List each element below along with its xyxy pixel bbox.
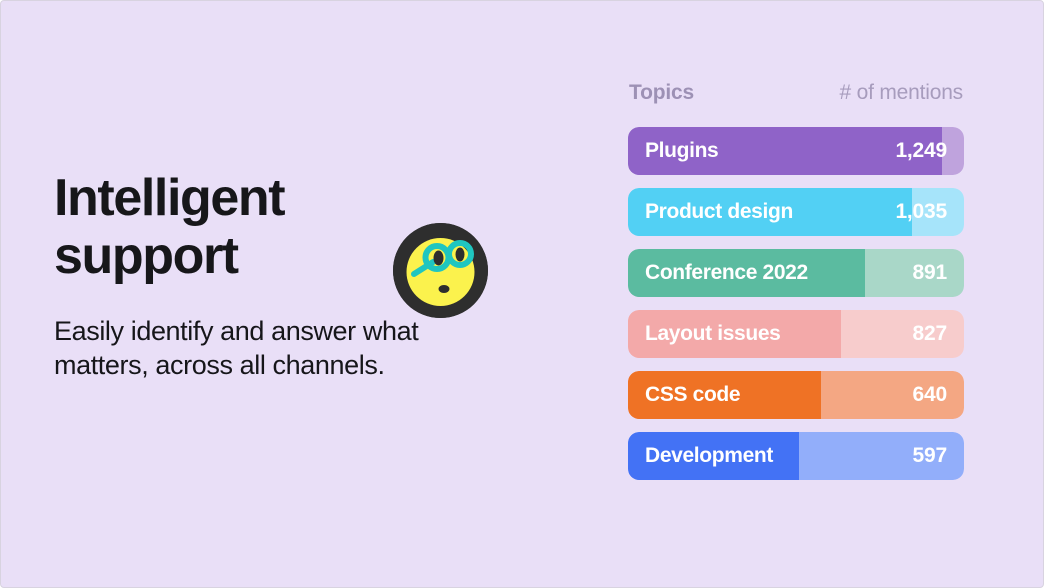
bar-value: 597 — [913, 444, 947, 468]
bar-label: Plugins — [645, 139, 718, 163]
bar-label: Layout issues — [645, 322, 781, 346]
bar-row-conference-2022[interactable]: Conference 2022 891 — [628, 249, 964, 297]
page-title: Intelligent support — [54, 169, 354, 285]
bar-content: Plugins 1,249 — [628, 127, 964, 175]
bar-row-css-code[interactable]: CSS code 640 — [628, 371, 964, 419]
face-with-monocle-icon — [393, 223, 488, 318]
column-header-mentions: # of mentions — [840, 81, 963, 105]
bar-content: Product design 1,035 — [628, 188, 964, 236]
chart-column-headers: Topics # of mentions — [628, 81, 964, 115]
page-subtitle: Easily identify and answer what matters,… — [54, 314, 484, 382]
bar-value: 640 — [913, 383, 947, 407]
bar-value: 827 — [913, 322, 947, 346]
slide-canvas: Intelligent support Easily identify and … — [0, 0, 1044, 588]
bar-chart-list: Plugins 1,249 Product design 1,035 Confe… — [628, 127, 964, 480]
bar-row-product-design[interactable]: Product design 1,035 — [628, 188, 964, 236]
bar-content: CSS code 640 — [628, 371, 964, 419]
bar-value: 1,035 — [895, 200, 947, 224]
bar-label: CSS code — [645, 383, 740, 407]
bar-content: Development 597 — [628, 432, 964, 480]
bar-row-plugins[interactable]: Plugins 1,249 — [628, 127, 964, 175]
bar-row-layout-issues[interactable]: Layout issues 827 — [628, 310, 964, 358]
bar-content: Conference 2022 891 — [628, 249, 964, 297]
bar-value: 1,249 — [895, 139, 947, 163]
column-header-topics: Topics — [629, 81, 694, 105]
bar-label: Conference 2022 — [645, 261, 808, 285]
mentions-chart-panel: Topics # of mentions Plugins 1,249 Produ… — [628, 81, 964, 480]
bar-content: Layout issues 827 — [628, 310, 964, 358]
bar-label: Development — [645, 444, 773, 468]
bar-value: 891 — [913, 261, 947, 285]
bar-label: Product design — [645, 200, 793, 224]
bar-row-development[interactable]: Development 597 — [628, 432, 964, 480]
